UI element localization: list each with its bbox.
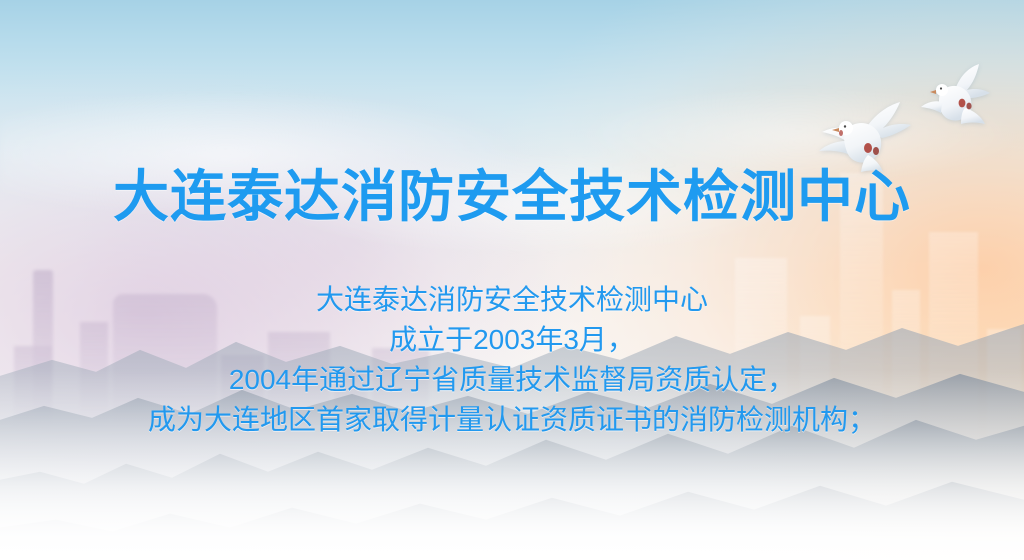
description-line: 成为大连地区首家取得计量认证资质证书的消防检测机构；	[0, 400, 1024, 440]
description-line: 成立于2003年3月，	[0, 320, 1024, 360]
banner-content: 大连泰达消防安全技术检测中心 大连泰达消防安全技术检测中心 成立于2003年3月…	[0, 0, 1024, 560]
hero-banner: 大连泰达消防安全技术检测中心 大连泰达消防安全技术检测中心 成立于2003年3月…	[0, 0, 1024, 560]
description-line: 大连泰达消防安全技术检测中心	[0, 280, 1024, 320]
description-line: 2004年通过辽宁省质量技术监督局资质认定，	[0, 360, 1024, 400]
page-title: 大连泰达消防安全技术检测中心	[0, 166, 1024, 228]
banner-description: 大连泰达消防安全技术检测中心 成立于2003年3月， 2004年通过辽宁省质量技…	[0, 280, 1024, 440]
